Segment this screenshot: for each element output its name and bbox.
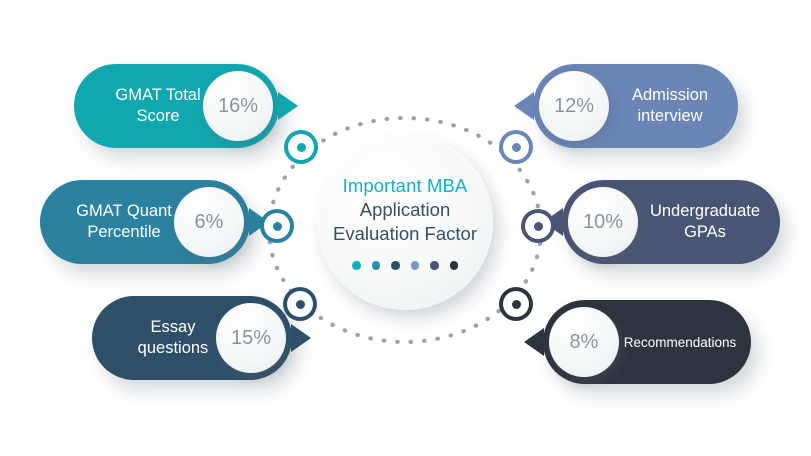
connector-node-essay-questions[interactable] — [287, 291, 313, 317]
connector-node-gmat-quant-percentile[interactable] — [264, 213, 290, 239]
factor-label: Admission interview — [605, 85, 735, 127]
factor-label: Undergraduate GPAs — [634, 201, 776, 243]
pill-tail-icon — [291, 324, 311, 352]
factor-label: Recommendations — [615, 334, 745, 351]
hub-title: Important MBA Application Evaluation Fac… — [317, 174, 493, 246]
center-hub: Important MBA Application Evaluation Fac… — [317, 134, 493, 310]
factor-pill-gmat-quant-percentile[interactable]: GMAT Quant Percentile 6% — [40, 180, 250, 264]
hub-title-line1: Important MBA — [317, 174, 493, 198]
legend-dot-6 — [450, 261, 459, 270]
factor-percent-badge: 10% — [568, 187, 638, 257]
pill-tail-icon — [514, 92, 534, 120]
factor-percent-badge: 8% — [549, 307, 619, 377]
infographic-canvas: GMAT Total Score 16% GMAT Quant Percenti… — [0, 0, 811, 456]
pill-tail-icon — [278, 92, 298, 120]
factor-percent-badge: 6% — [174, 187, 244, 257]
pill-tail-icon — [524, 328, 544, 356]
connector-node-undergraduate-gpas[interactable] — [525, 213, 551, 239]
factor-pill-recommendations[interactable]: 8% Recommendations — [543, 300, 751, 384]
legend-dot-1 — [352, 261, 361, 270]
legend-dot-2 — [372, 261, 381, 270]
connector-node-admission-interview[interactable] — [503, 134, 529, 160]
factor-percent-badge: 15% — [216, 303, 286, 373]
factor-percent-badge: 16% — [203, 71, 273, 141]
factor-pill-admission-interview[interactable]: 12% Admission interview — [533, 64, 738, 148]
factor-percent-badge: 12% — [539, 71, 609, 141]
factor-pill-gmat-total-score[interactable]: GMAT Total Score 16% — [74, 64, 279, 148]
legend-dot-4 — [411, 261, 420, 270]
legend-dot-3 — [391, 261, 400, 270]
legend-dot-5 — [430, 261, 439, 270]
connector-node-recommendations[interactable] — [503, 291, 529, 317]
connector-node-gmat-total-score[interactable] — [288, 134, 314, 160]
legend-dots — [352, 261, 458, 270]
hub-title-line3: Evaluation Factor — [317, 222, 493, 246]
factor-pill-essay-questions[interactable]: Essay questions 15% — [92, 296, 292, 380]
factor-pill-undergraduate-gpas[interactable]: 10% Undergraduate GPAs — [562, 180, 780, 264]
hub-title-line2: Application — [317, 198, 493, 222]
